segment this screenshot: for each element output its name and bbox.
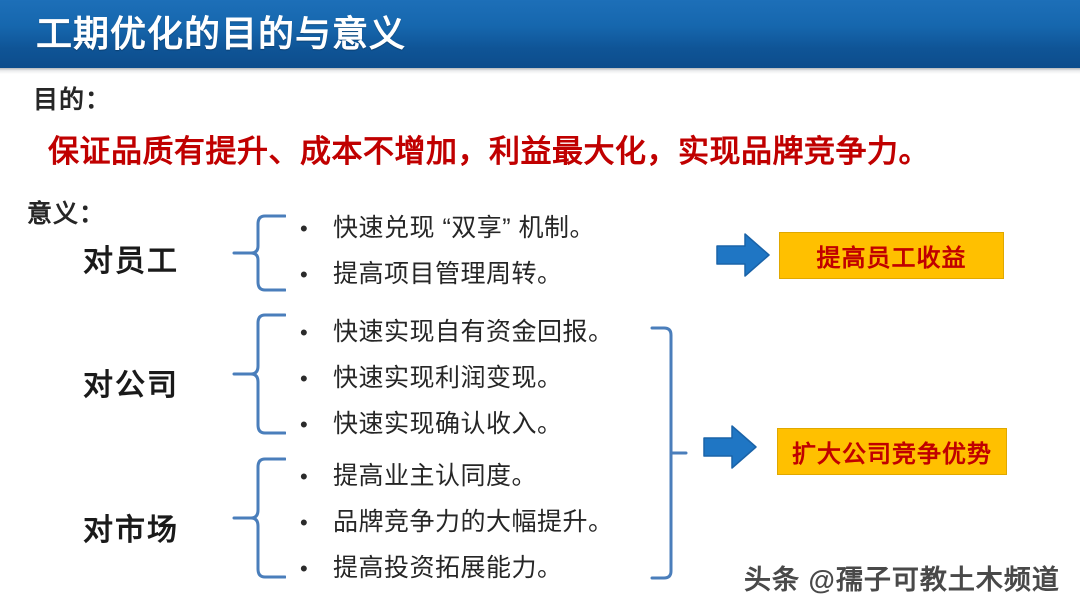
list-item-label: 快速实现自有资金回报。 — [333, 320, 614, 345]
group-title-market: 对市场 — [83, 505, 179, 549]
outcome-badge-label: 提高员工收益 — [817, 238, 967, 273]
slide-canvas: 工期优化的目的与意义 目的： 保证品质有提升、成本不增加，利益最大化，实现品牌竞… — [0, 0, 1080, 608]
curly-brace-icon-staff — [232, 213, 286, 293]
list-item: • 提高投资拓展能力。 — [300, 556, 563, 581]
list-item-label: 提高项目管理周转。 — [333, 262, 563, 287]
list-item: • 提高项目管理周转。 — [300, 262, 563, 287]
list-item: • 品牌竞争力的大幅提升。 — [300, 510, 614, 535]
arrow-right-icon-staff — [715, 232, 771, 278]
bullet-icon: • — [300, 368, 316, 390]
bullet-icon: • — [300, 466, 316, 488]
purpose-label: 目的： — [33, 80, 111, 116]
watermark: 头条 @孺子可教土木频道 — [744, 558, 1060, 597]
group-title-company: 对公司 — [83, 360, 179, 404]
list-item-label: 快速实现确认收入。 — [333, 412, 563, 437]
list-item: • 快速实现自有资金回报。 — [300, 320, 614, 345]
outcome-badge-label: 扩大公司竞争优势 — [792, 434, 992, 469]
list-item-label: 品牌竞争力的大幅提升。 — [333, 510, 614, 535]
arrow-right-icon-market — [702, 424, 758, 470]
list-item-label: 快速兑现 “双享” 机制。 — [333, 216, 595, 241]
list-item: • 快速实现利润变现。 — [300, 366, 563, 391]
outcome-badge-staff: 提高员工收益 — [779, 232, 1004, 279]
list-item-label: 提高投资拓展能力。 — [333, 556, 563, 581]
list-item-label: 提高业主认同度。 — [333, 464, 537, 489]
bullet-icon: • — [300, 558, 316, 580]
curly-brace-icon-market — [232, 456, 286, 580]
list-item: • 快速兑现 “双享” 机制。 — [300, 216, 595, 241]
bullet-icon: • — [300, 264, 316, 286]
list-item: • 快速实现确认收入。 — [300, 412, 563, 437]
bullet-icon: • — [300, 414, 316, 436]
bullet-icon: • — [300, 218, 316, 240]
list-item-label: 快速实现利润变现。 — [333, 366, 563, 391]
group-title-staff: 对员工 — [83, 236, 179, 280]
curly-brace-icon-company — [232, 312, 286, 436]
square-bracket-icon-grouping — [648, 320, 688, 586]
list-item: • 提高业主认同度。 — [300, 464, 537, 489]
page-title: 工期优化的目的与意义 — [36, 11, 406, 57]
header-drop-shadow — [0, 68, 1080, 74]
bullet-icon: • — [300, 322, 316, 344]
purpose-statement: 保证品质有提升、成本不增加，利益最大化，实现品牌竞争力。 — [48, 126, 930, 171]
significance-label: 意义： — [27, 194, 105, 230]
outcome-badge-market: 扩大公司竞争优势 — [777, 428, 1007, 475]
bullet-icon: • — [300, 512, 316, 534]
